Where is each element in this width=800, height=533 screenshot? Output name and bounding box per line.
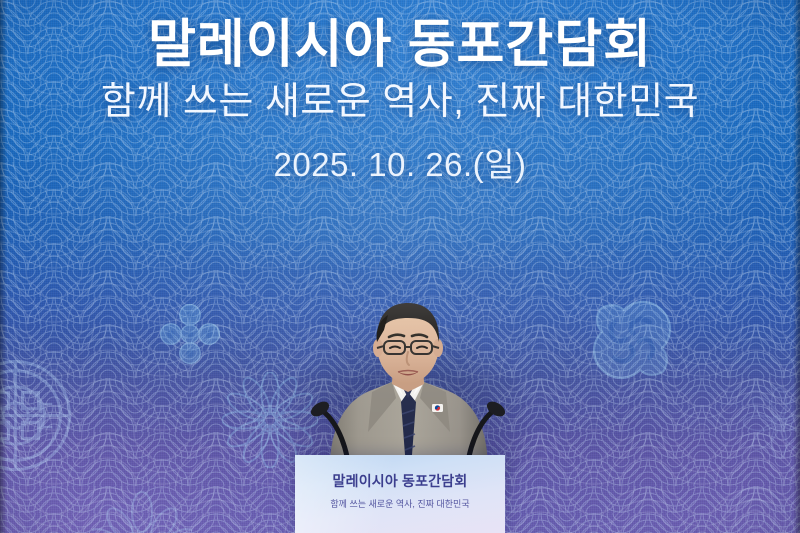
event-headline-block: 말레이시아 동포간담회 함께 쓰는 새로운 역사, 진짜 대한민국 2025. …: [0, 18, 800, 186]
event-backdrop-photo: 말레이시아 동포간담회 함께 쓰는 새로운 역사, 진짜 대한민국 2025. …: [0, 0, 800, 533]
podium-sign-panel: 말레이시아 동포간담회 함께 쓰는 새로운 역사, 진짜 대한민국: [295, 455, 505, 533]
event-title: 말레이시아 동포간담회: [0, 18, 800, 73]
podium-sign-title: 말레이시아 동포간담회: [295, 471, 505, 491]
event-subtitle: 함께 쓰는 새로운 역사, 진짜 대한민국: [0, 81, 800, 124]
podium-sign-subtitle: 함께 쓰는 새로운 역사, 진짜 대한민국: [295, 497, 505, 510]
event-date: 2025. 10. 26.(일): [0, 138, 800, 186]
